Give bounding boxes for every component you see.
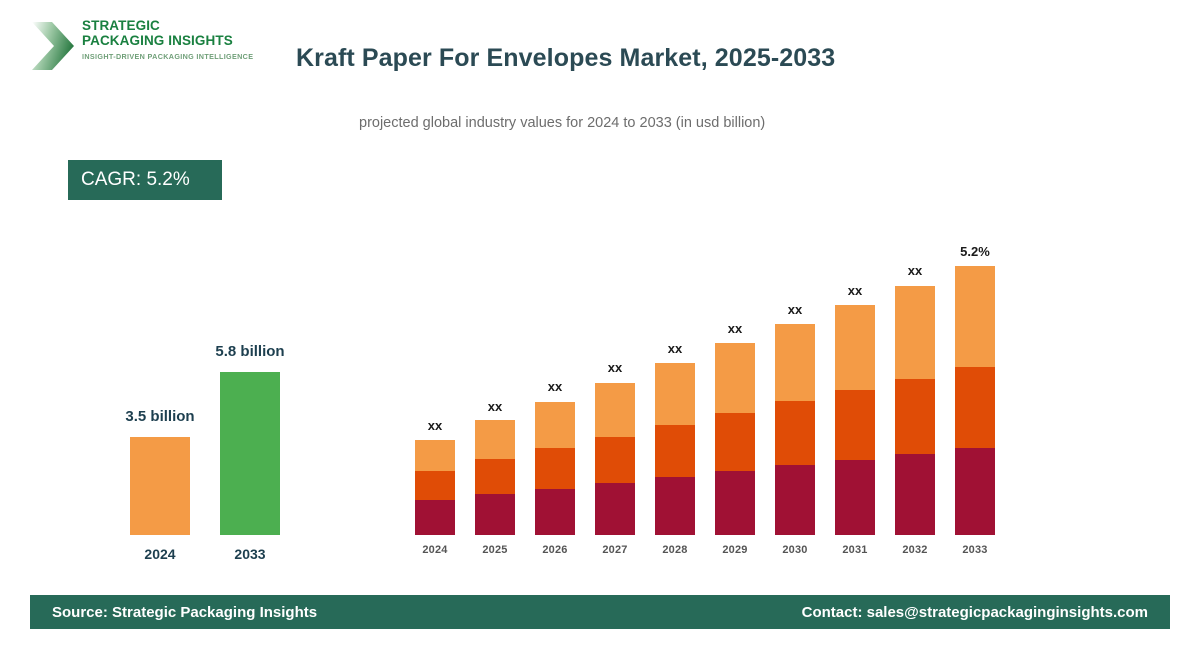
stacked-bar-segment [415,440,455,471]
stacked-bar-segment [595,383,635,437]
stacked-bar-segment [475,459,515,494]
stacked-bar-segment [715,471,755,535]
stacked-bar-segment [475,420,515,459]
stacked-bar-segment [955,266,995,367]
comparison-bar-value-label: 3.5 billion [110,408,210,425]
stacked-bar-segment [595,437,635,483]
stacked-bar-segment [895,286,935,379]
logo-tagline: INSIGHT-DRIVEN PACKAGING INTELLIGENCE [82,52,257,61]
stacked-bar-value-label: xx [775,302,815,317]
footer-contact: Contact: sales@strategicpackaginginsight… [802,604,1148,621]
chart-canvas: STRATEGIC PACKAGING INSIGHTS INSIGHT-DRI… [0,0,1200,650]
stacked-bar-segment [955,367,995,448]
chevron-logo-icon [30,20,76,72]
stacked-bar [655,363,695,535]
stacked-bar-category-label: 2026 [535,544,575,556]
stacked-bar-segment [535,448,575,489]
stacked-bar-segment [835,390,875,460]
stacked-bar [775,324,815,535]
comparison-bar [130,437,190,535]
comparison-bar-category-label: 2033 [200,546,300,562]
stacked-bar-category-label: 2025 [475,544,515,556]
stacked-bar-segment [775,401,815,465]
comparison-bar-fill [220,372,280,535]
comparison-bar-category-label: 2024 [110,546,210,562]
stacked-bar-category-label: 2033 [955,544,995,556]
stacked-bar [475,420,515,535]
stacked-bar [715,343,755,535]
stacked-bar-value-label: xx [475,399,515,414]
page-title: Kraft Paper For Envelopes Market, 2025-2… [296,44,835,73]
stacked-bar-value-label: xx [655,341,695,356]
logo-line-2: PACKAGING INSIGHTS [82,33,257,48]
stacked-bar [835,305,875,535]
stacked-bar-category-label: 2029 [715,544,755,556]
stacked-bar [895,286,935,535]
stacked-bar-category-label: 2024 [415,544,455,556]
stacked-bar-segment [415,500,455,535]
stacked-bar-value-label: xx [595,360,635,375]
stacked-bar-segment [415,471,455,500]
cagr-badge: CAGR: 5.2% [68,160,222,200]
stacked-bar-chart: xx2024xx2025xx2026xx2027xx2028xx2029xx20… [405,190,1025,560]
stacked-bar-segment [895,379,935,454]
comparison-bar-value-label: 5.8 billion [200,343,300,360]
stacked-bar-value-label: xx [535,379,575,394]
stacked-bar-segment [715,413,755,471]
stacked-bar-segment [655,477,695,535]
stacked-bar-value-label: xx [715,321,755,336]
stacked-bar-value-label: xx [895,263,935,278]
stacked-bar-category-label: 2032 [895,544,935,556]
stacked-bar-segment [535,402,575,448]
stacked-bar-value-label: xx [415,418,455,433]
stacked-bar-category-label: 2030 [775,544,815,556]
brand-logo: STRATEGIC PACKAGING INSIGHTS INSIGHT-DRI… [30,16,260,78]
stacked-bar-segment [835,460,875,535]
page-subtitle: projected global industry values for 202… [359,115,765,131]
stacked-bar-segment [535,489,575,535]
logo-line-1: STRATEGIC [82,18,257,33]
stacked-bar-segment [955,448,995,535]
comparison-bar [220,372,280,535]
cagr-badge-label: CAGR: 5.2% [81,169,190,191]
stacked-bar [415,440,455,535]
stacked-bar [535,402,575,535]
stacked-bar [595,383,635,535]
stacked-bar-value-label: xx [835,283,875,298]
stacked-bar-segment [475,494,515,535]
stacked-bar [955,266,995,535]
footer-source: Source: Strategic Packaging Insights [52,604,317,621]
stacked-bar-value-label: 5.2% [955,244,995,259]
comparison-bar-fill [130,437,190,535]
stacked-bar-segment [715,343,755,413]
comparison-bar-chart: 3.5 billion20245.8 billion2033 [50,300,300,570]
stacked-bar-segment [775,465,815,535]
footer-bar: Source: Strategic Packaging Insights Con… [30,595,1170,629]
stacked-bar-category-label: 2028 [655,544,695,556]
stacked-bar-segment [895,454,935,535]
stacked-bar-segment [655,425,695,477]
stacked-bar-segment [775,324,815,401]
stacked-bar-category-label: 2031 [835,544,875,556]
stacked-bar-segment [835,305,875,390]
stacked-bar-segment [595,483,635,535]
stacked-bar-segment [655,363,695,425]
stacked-bar-category-label: 2027 [595,544,635,556]
